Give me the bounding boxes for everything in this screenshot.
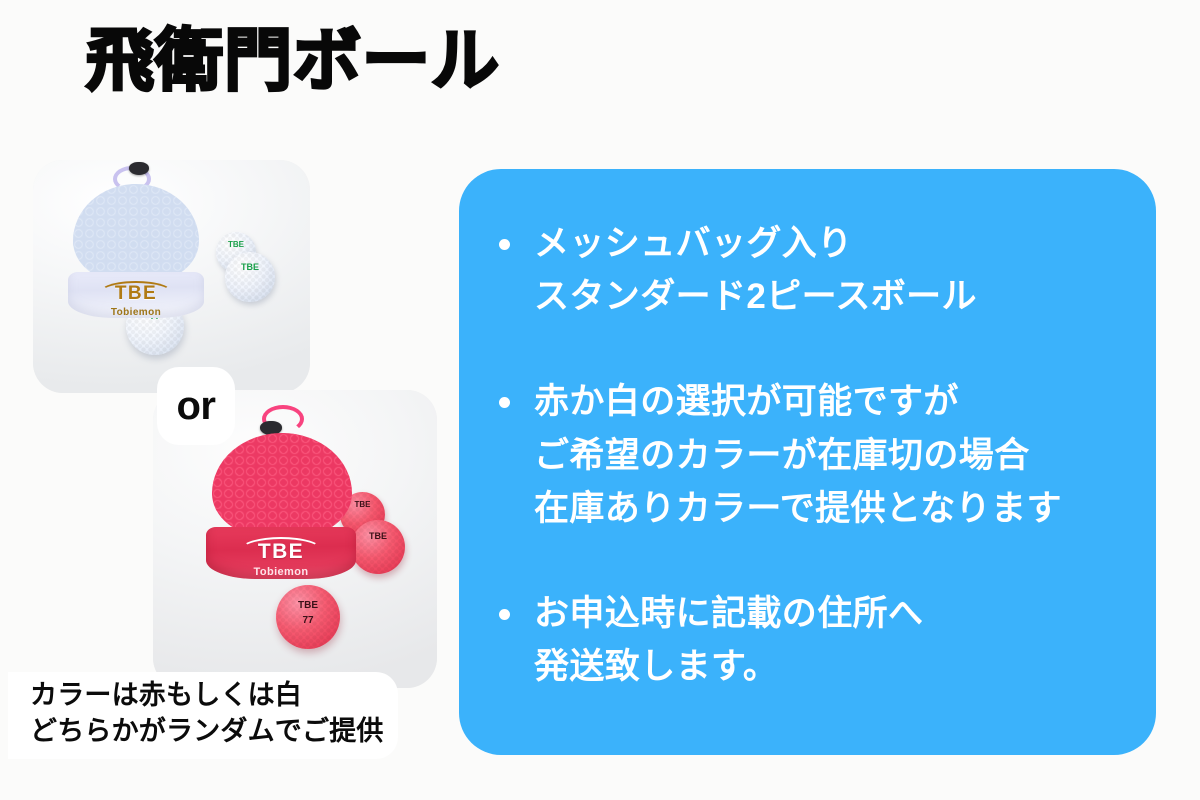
info-panel: メッシュバッグ入り スタンダード2ピースボール 赤か白の選択が可能ですが ご希望… [459,169,1156,755]
caption-line-1: カラーは赤もしくは白 [30,678,384,714]
ball-logo-white-2: TBE [225,263,275,272]
product-photo-column: TBE TBE 77 [0,0,460,800]
bag-mesh-net [73,184,199,282]
feature-bullet-list: メッシュバッグ入り スタンダード2ピースボール 赤か白の選択が可能ですが ご希望… [485,217,1122,693]
ball-logo-red-2: TBE [351,532,405,541]
bullet-1-line-2: スタンダード2ピースボール [534,270,1122,323]
golf-ball-white: TBE [225,252,275,302]
bag-mesh-net [212,433,352,537]
caption-line-2: どちらかがランダムでご提供 [30,714,384,750]
bullet-text: お申込時に記載の住所へ 発送致します。 [534,587,1122,693]
bag-base-band: TBE Tobiemon [68,272,204,318]
brand-arc-decoration [99,281,173,305]
bag-brand-logo-red: TBE Tobiemon [206,541,356,578]
bullet-3-line-2: 発送致します。 [534,640,1122,693]
ball-number-red-digits: 77 [276,616,340,626]
list-item: お申込時に記載の住所へ 発送致します。 [485,587,1122,693]
ball-texture [225,252,275,302]
bullet-text: メッシュバッグ入り スタンダード2ピースボール [534,217,1122,323]
bullet-3-line-1: お申込時に記載の住所へ [534,587,1122,640]
golf-ball-red: TBE [351,520,405,574]
bullet-dot-icon [499,397,510,408]
brand-subname: Tobiemon [206,567,356,578]
bag-toggle-knob [129,162,149,175]
mesh-bag-white: TBE Tobiemon [67,164,205,314]
ball-number-red: TBE [276,601,340,611]
or-badge-label: or [177,386,216,426]
photo-caption: カラーは赤もしくは白 どちらかがランダムでご提供 [8,672,398,759]
ball-logo-white-1: TBE [216,241,256,249]
bullet-2-line-2: ご希望のカラーが在庫切の場合 [534,429,1122,482]
list-item: 赤か白の選択が可能ですが ご希望のカラーが在庫切の場合 在庫ありカラーで提供とな… [485,375,1122,535]
bullet-1-line-1: メッシュバッグ入り [534,217,1122,270]
bag-net-pattern [73,184,199,282]
bag-base-band: TBE Tobiemon [206,527,356,579]
brand-subname: Tobiemon [68,308,204,318]
ball-texture [351,520,405,574]
bullet-2-line-1: 赤か白の選択が可能ですが [534,375,1122,428]
promo-page: 飛衛門ボール TBE TBE [0,0,1200,800]
photo-white-balls-image: TBE TBE 77 [33,160,310,393]
photo-card-white-balls: TBE TBE 77 [33,160,310,393]
bag-net-pattern [212,433,352,537]
bullet-dot-icon [499,239,510,250]
brand-arc-decoration [240,537,322,563]
bullet-2-line-3: 在庫ありカラーで提供となります [534,482,1122,535]
bullet-text: 赤か白の選択が可能ですが ご希望のカラーが在庫切の場合 在庫ありカラーで提供とな… [534,375,1122,535]
list-item: メッシュバッグ入り スタンダード2ピースボール [485,217,1122,323]
or-badge: or [157,367,235,445]
golf-ball-red: TBE 77 [276,585,340,649]
bag-brand-logo-white: TBE Tobiemon [68,284,204,318]
bullet-dot-icon [499,609,510,620]
